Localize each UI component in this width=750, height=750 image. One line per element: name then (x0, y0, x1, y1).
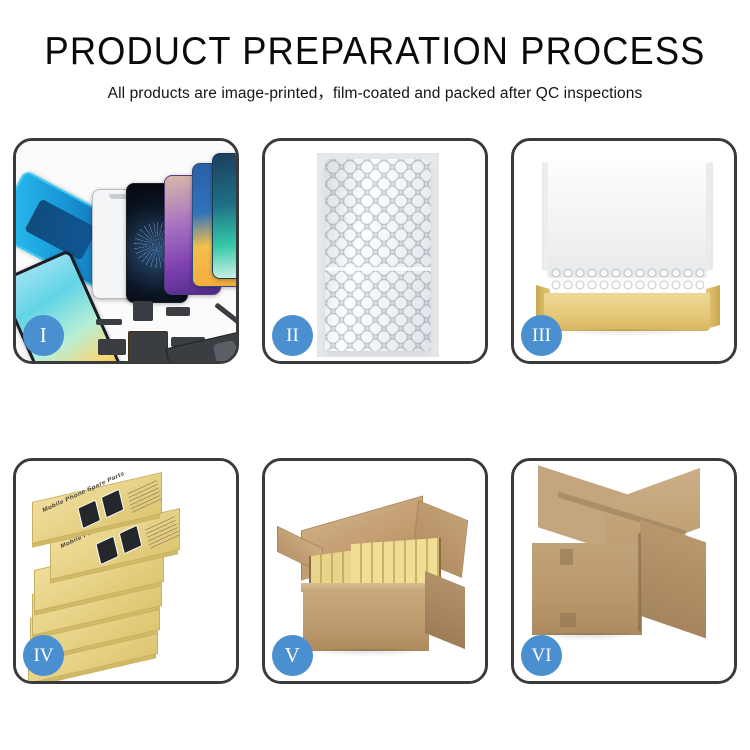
step-badge-4: IV (23, 635, 64, 676)
box-spec-lines-1 (127, 477, 162, 513)
sealed-carton-mark-top (560, 549, 573, 565)
step-badge-6: VI (521, 635, 562, 676)
part-phone-back-housing (165, 331, 236, 361)
sealed-carton-right-panel (640, 520, 706, 639)
process-step-card-6: VI (511, 458, 737, 684)
part-strip (96, 319, 122, 325)
process-step-card-5: V (262, 458, 488, 684)
part-connector (166, 307, 190, 316)
step-badge-1: I (23, 315, 64, 356)
header: PRODUCT PREPARATION PROCESS All products… (0, 0, 750, 120)
step-badge-2: II (272, 315, 313, 356)
process-step-card-4: Mobile Phone Spare Parts Mobile Phone Sp… (13, 458, 239, 684)
process-step-card-3: III (511, 138, 737, 364)
box-shadow (544, 329, 710, 337)
step-badge-3: III (521, 315, 562, 356)
bubble-wrap-seam (325, 267, 431, 271)
bubble-wrap-shading (325, 159, 431, 351)
part-gold-coil (133, 301, 153, 321)
process-step-grid: I II III (13, 138, 737, 684)
step-badge-5: V (272, 635, 313, 676)
part-flex-cable-a (98, 339, 126, 355)
carton-right-panel (425, 571, 465, 649)
page-subtitle: All products are image-printed，film-coat… (0, 83, 750, 105)
sealed-carton-corner-edge (638, 533, 641, 631)
process-step-card-1: I (13, 138, 239, 364)
part-tweezers-tool (214, 302, 236, 328)
carton-shadow (303, 649, 431, 657)
box-white-lid (548, 161, 706, 277)
sealed-carton-front-panel (532, 543, 642, 635)
process-step-card-2: II (262, 138, 488, 364)
phone-teal (212, 153, 236, 279)
page-title: PRODUCT PREPARATION PROCESS (26, 29, 724, 75)
sealed-carton-mark-bottom (560, 613, 576, 627)
carton-front-panel (303, 589, 429, 651)
box-yellow-front (544, 293, 710, 331)
